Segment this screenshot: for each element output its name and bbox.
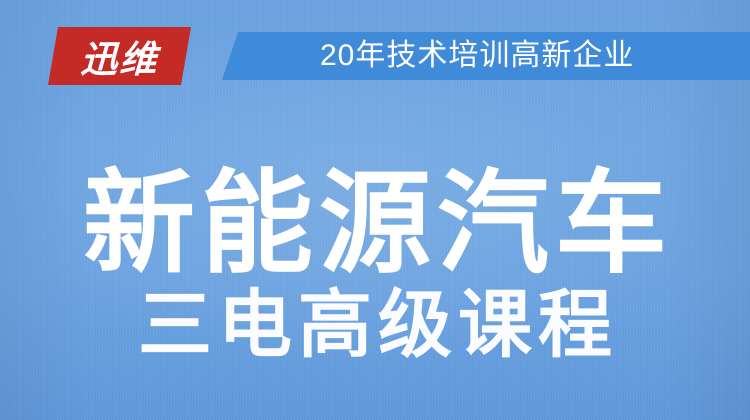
brand-logo-text: 迅维 (47, 27, 192, 85)
poster-title-sub: 三电高级课程 (0, 288, 750, 362)
poster-title-main: 新能源汽车 (0, 168, 750, 280)
promo-poster: 迅维 20年技术培训高新企业 新能源汽车 三电高级课程 (0, 0, 750, 420)
tagline-text: 20年技术培训高新企业 (320, 32, 634, 80)
poster-header: 迅维 20年技术培训高新企业 (0, 0, 750, 110)
